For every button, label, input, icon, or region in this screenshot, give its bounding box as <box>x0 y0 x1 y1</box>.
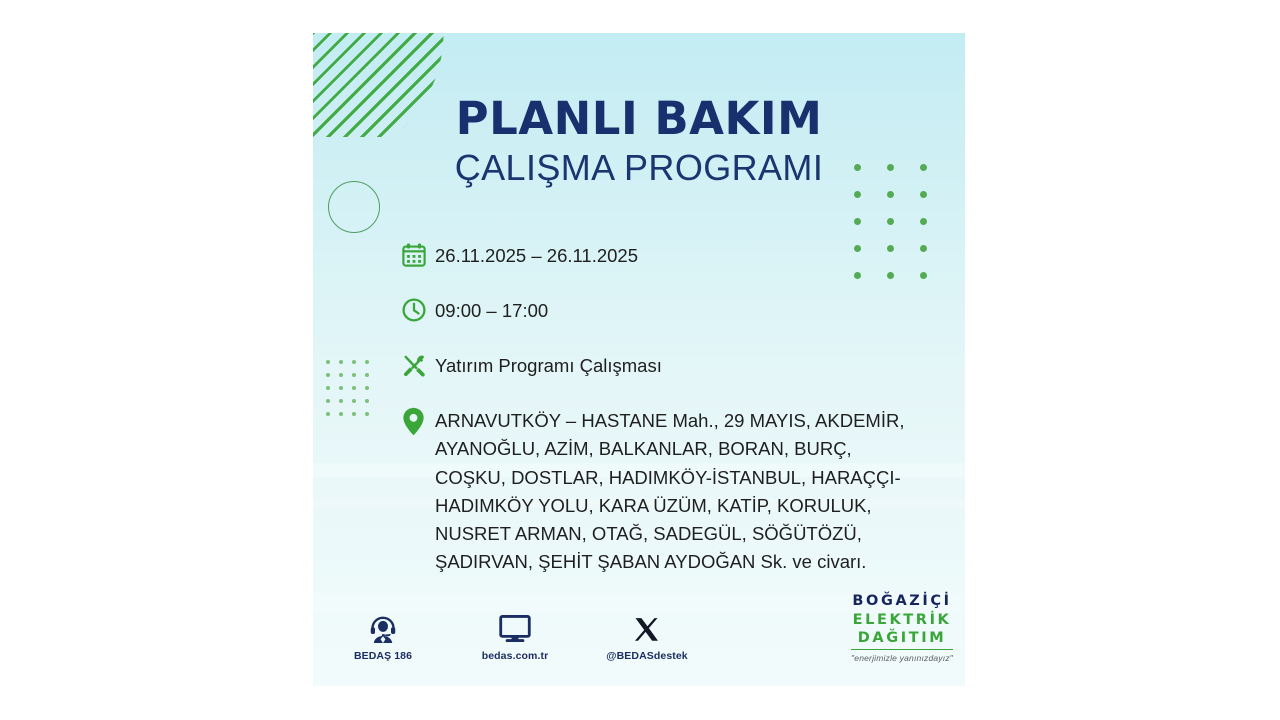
screenshot-root: PLANLI BAKIM ÇALIŞMA PROGRAMI <box>0 0 1280 720</box>
poster-footer: BEDAŞ 186 bedas.com.tr <box>313 596 965 668</box>
calendar-icon <box>401 240 435 270</box>
maintenance-details: 26.11.2025 – 26.11.2025 09:00 – 17:00 <box>401 240 949 576</box>
x-twitter-icon <box>599 610 695 644</box>
contact-website-label: bedas.com.tr <box>467 650 563 662</box>
contact-channels: BEDAŞ 186 bedas.com.tr <box>335 610 695 662</box>
monitor-icon <box>467 610 563 644</box>
detail-row-date: 26.11.2025 – 26.11.2025 <box>401 240 949 270</box>
bedas-logo: BOĞAZİÇİ ELEKTRİK DAĞITIM "enerjimizle y… <box>851 594 953 662</box>
date-range-value: 26.11.2025 – 26.11.2025 <box>435 240 638 270</box>
page-title: PLANLI BAKIM <box>313 95 965 142</box>
address-value: ARNAVUTKÖY – HASTANE Mah., 29 MAYIS, AKD… <box>435 405 904 576</box>
location-pin-icon <box>401 405 435 435</box>
contact-phone[interactable]: BEDAŞ 186 <box>335 610 431 662</box>
planned-maintenance-poster: PLANLI BAKIM ÇALIŞMA PROGRAMI <box>313 33 965 686</box>
brand-line-bogazici: BOĞAZİÇİ <box>851 594 953 609</box>
brand-tagline: "enerjimizle yanınızdayız" <box>851 654 953 663</box>
tools-icon <box>401 350 435 380</box>
detail-row-work-type: Yatırım Programı Çalışması <box>401 350 949 380</box>
detail-row-time: 09:00 – 17:00 <box>401 295 949 325</box>
contact-social[interactable]: @BEDASdestek <box>599 610 695 662</box>
work-type-value: Yatırım Programı Çalışması <box>435 350 662 380</box>
headset-support-icon <box>335 610 431 644</box>
detail-row-address: ARNAVUTKÖY – HASTANE Mah., 29 MAYIS, AKD… <box>401 405 949 576</box>
page-subtitle: ÇALIŞMA PROGRAMI <box>313 148 965 188</box>
circle-outline-decoration <box>328 181 380 233</box>
contact-website[interactable]: bedas.com.tr <box>467 610 563 662</box>
poster-header: PLANLI BAKIM ÇALIŞMA PROGRAMI <box>313 95 965 188</box>
contact-phone-label: BEDAŞ 186 <box>335 650 431 662</box>
time-range-value: 09:00 – 17:00 <box>435 295 548 325</box>
contact-social-label: @BEDASdestek <box>599 650 695 662</box>
dot-grid-decoration-left <box>326 360 378 425</box>
clock-icon <box>401 295 435 325</box>
brand-line-elektrik: ELEKTRİK <box>851 613 953 628</box>
brand-line-dagitim: DAĞITIM <box>851 631 953 650</box>
